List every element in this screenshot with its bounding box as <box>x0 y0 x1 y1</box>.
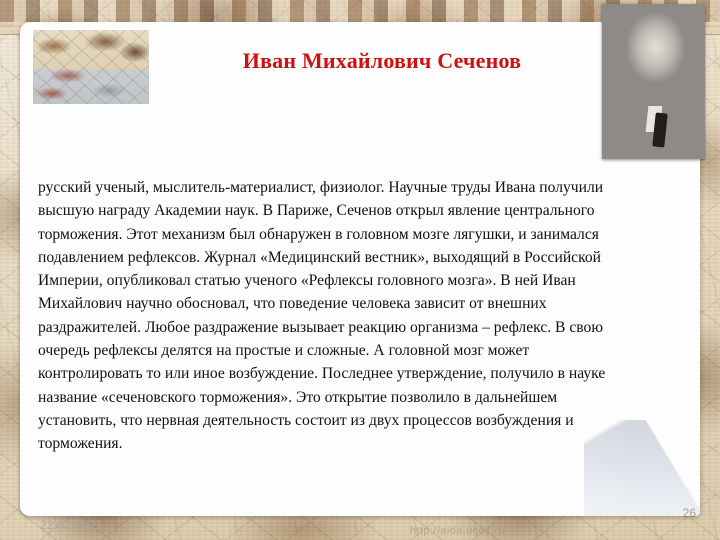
slide-title: Иван Михайлович Сеченов <box>172 48 592 73</box>
slide-body-text: русский ученый, мыслитель-материалист, ф… <box>38 176 618 456</box>
date-stamp: 22.02.2021 <box>40 518 102 532</box>
slide-number: 26 <box>683 506 696 520</box>
watermark-url: http://aida.ucoz.ru <box>410 525 505 537</box>
map-thumbnail-lines <box>33 30 149 104</box>
body-paragraph: русский ученый, мыслитель-материалист, ф… <box>38 176 618 456</box>
presentation-slide: Иван Михайлович Сеченов русский ученый, … <box>0 0 720 540</box>
antique-map-thumbnail-image <box>33 30 149 104</box>
portrait-photo-sechenov <box>602 4 705 159</box>
